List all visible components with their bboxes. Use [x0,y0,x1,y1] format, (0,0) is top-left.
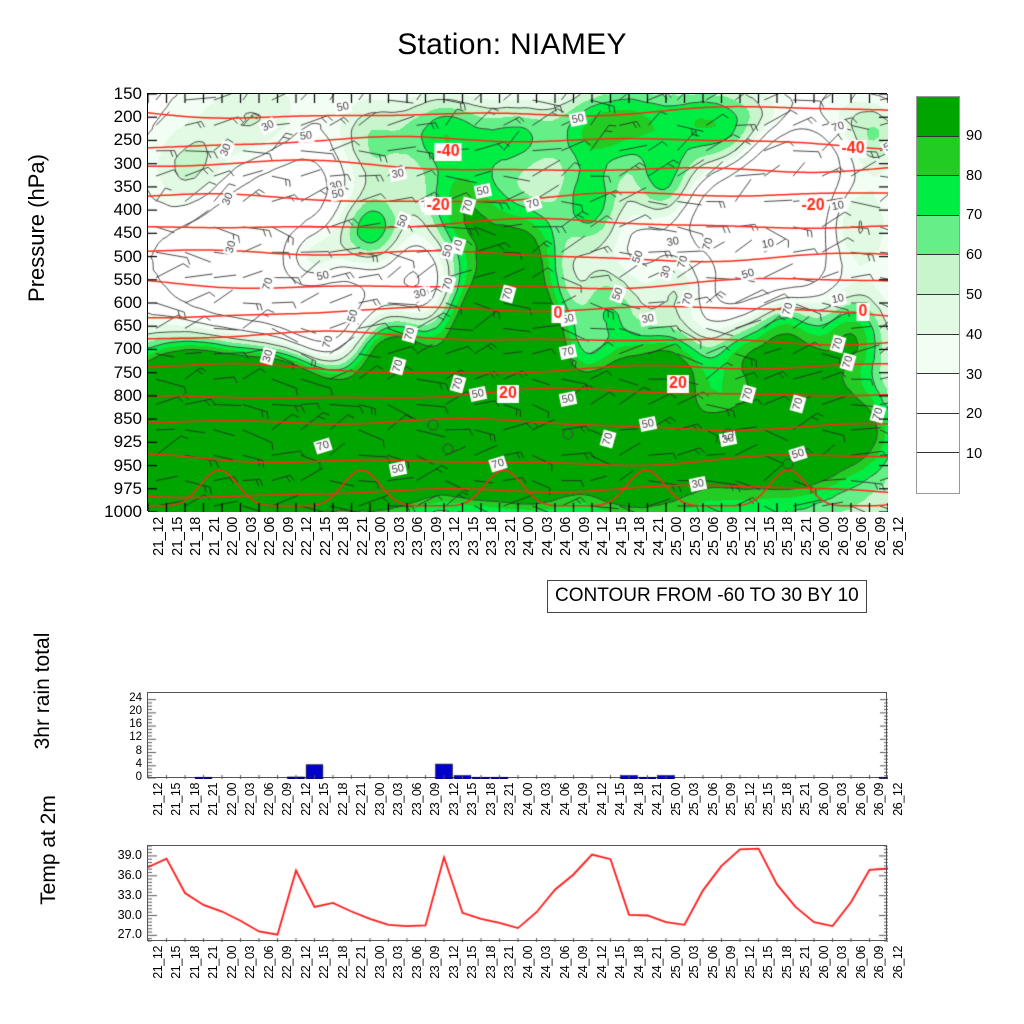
time-tick-25_18: 25_18 [781,517,795,556]
rain-time-tick-24_06: 24_06 [559,783,571,816]
time-tick-24_00: 24_00 [522,517,536,556]
temp-tick-39.0: 39.0 [118,849,142,861]
page-title: Station: NIAMEY [0,28,1024,62]
humidity-cross-section-plot [147,93,887,511]
rain-time-tick-26_03: 26_03 [836,783,848,816]
pressure-tick-150: 150 [114,85,142,102]
pressure-tick-750: 750 [114,364,142,381]
time-tick-23_15: 23_15 [467,517,481,556]
time-tick-22_09: 22_09 [282,517,296,556]
time-tick-26_00: 26_00 [818,517,832,556]
rain-time-tick-25_15: 25_15 [762,783,774,816]
rain-time-tick-22_03: 22_03 [244,783,256,816]
time-tick-24_21: 24_21 [652,517,666,556]
colorbar-cell-4 [917,255,959,295]
temp-time-tick-23_21: 23_21 [503,946,515,979]
rain-tick-12: 12 [129,732,142,743]
temp-time-tick-22_21: 22_21 [355,946,367,979]
pressure-tick-550: 550 [114,271,142,288]
temp-time-tick-26_06: 26_06 [855,946,867,979]
pressure-tick-350: 350 [114,178,142,195]
temp-time-tick-24_12: 24_12 [596,946,608,979]
temp-time-tick-24_06: 24_06 [559,946,571,979]
temp-time-tick-26_03: 26_03 [836,946,848,979]
rain-time-tick-22_18: 22_18 [337,783,349,816]
time-tick-23_03: 23_03 [393,517,407,556]
rain-time-tick-21_15: 21_15 [170,783,182,816]
colorbar-cell-5 [917,295,959,335]
time-tick-24_03: 24_03 [541,517,555,556]
rain-time-tick-23_12: 23_12 [448,783,460,816]
humidity-contour-canvas [148,94,888,512]
colorbar-label-70: 70 [966,208,982,222]
humidity-colorbar [916,96,960,494]
main-x-axis-ticks: 21_1221_1521_1821_2122_0022_0322_0622_09… [147,517,887,579]
rain-tick-0: 0 [136,772,142,783]
temp-time-tick-21_15: 21_15 [170,946,182,979]
pressure-tick-450: 450 [114,224,142,241]
temp-time-tick-21_21: 21_21 [207,946,219,979]
pressure-tick-650: 650 [114,317,142,334]
time-tick-22_00: 22_00 [226,517,240,556]
temp-time-tick-23_12: 23_12 [448,946,460,979]
temp-y-axis-ticks: 39.036.033.030.027.0 [88,838,142,948]
pressure-tick-700: 700 [114,340,142,357]
contour-note: CONTOUR FROM -60 TO 30 BY 10 [547,580,867,613]
colorbar-label-50: 50 [966,288,982,302]
pressure-tick-850: 850 [114,410,142,427]
temp-time-tick-25_18: 25_18 [781,946,793,979]
rain-time-tick-24_21: 24_21 [651,783,663,816]
rain-y-axis-ticks: 24201612840 [100,684,142,784]
time-tick-25_00: 25_00 [670,517,684,556]
time-tick-22_12: 22_12 [300,517,314,556]
temp-time-tick-23_06: 23_06 [411,946,423,979]
time-tick-25_12: 25_12 [744,517,758,556]
temp-time-tick-25_15: 25_15 [762,946,774,979]
humidity-colorbar-labels: 908070605040302010 [966,96,1022,496]
rain-time-tick-25_18: 25_18 [781,783,793,816]
rain-time-tick-23_15: 23_15 [466,783,478,816]
rain-bar-plot [147,692,887,778]
temp-tick-36.0: 36.0 [118,869,142,881]
colorbar-label-60: 60 [966,248,982,262]
temp-time-tick-24_18: 24_18 [633,946,645,979]
pressure-tick-950: 950 [114,457,142,474]
rain-tick-8: 8 [136,746,142,757]
temperature-line-canvas [148,846,888,942]
rain-time-tick-26_00: 26_00 [818,783,830,816]
colorbar-label-10: 10 [966,447,982,461]
pressure-tick-600: 600 [114,294,142,311]
time-tick-25_09: 25_09 [726,517,740,556]
rain-time-tick-26_12: 26_12 [892,783,904,816]
pressure-tick-800: 800 [114,387,142,404]
rain-time-tick-23_00: 23_00 [374,783,386,816]
temp-time-tick-23_00: 23_00 [374,946,386,979]
time-tick-25_15: 25_15 [763,517,777,556]
rain-time-tick-25_09: 25_09 [725,783,737,816]
time-tick-24_15: 24_15 [615,517,629,556]
temp-time-tick-26_09: 26_09 [873,946,885,979]
rain-time-tick-22_12: 22_12 [300,783,312,816]
rain-tick-4: 4 [136,759,142,770]
rain-tick-20: 20 [129,706,142,717]
temp-x-axis-ticks: 21_1221_1521_1821_2122_0022_0322_0622_09… [147,946,887,1000]
temp-time-tick-25_12: 25_12 [744,946,756,979]
temp-time-tick-22_18: 22_18 [337,946,349,979]
time-tick-26_12: 26_12 [892,517,906,556]
temp-y-axis-label: Temp at 2m [37,755,61,945]
rain-time-tick-23_21: 23_21 [503,783,515,816]
colorbar-cell-9 [917,453,959,493]
time-tick-23_21: 23_21 [504,517,518,556]
colorbar-label-90: 90 [966,129,982,143]
time-tick-24_12: 24_12 [596,517,610,556]
time-tick-21_18: 21_18 [189,517,203,556]
temp-time-tick-25_03: 25_03 [688,946,700,979]
time-tick-23_06: 23_06 [411,517,425,556]
time-tick-26_06: 26_06 [855,517,869,556]
temp-time-tick-22_15: 22_15 [318,946,330,979]
temp-time-tick-21_18: 21_18 [189,946,201,979]
rain-time-tick-24_12: 24_12 [596,783,608,816]
pressure-tick-400: 400 [114,201,142,218]
rain-time-tick-25_03: 25_03 [688,783,700,816]
main-y-axis-label: Pressure (hPa) [24,108,50,348]
colorbar-label-80: 80 [966,169,982,183]
time-tick-25_06: 25_06 [707,517,721,556]
rain-time-tick-25_00: 25_00 [670,783,682,816]
pressure-tick-500: 500 [114,248,142,265]
time-tick-22_18: 22_18 [337,517,351,556]
weather-sounding-figure: Station: NIAMEY Pressure (hPa) 150200250… [0,0,1024,1024]
main-y-axis-ticks: 1502002503003504004505005506006507007508… [76,86,142,518]
temp-time-tick-24_03: 24_03 [540,946,552,979]
colorbar-label-40: 40 [966,328,982,342]
temp-time-tick-23_15: 23_15 [466,946,478,979]
rain-time-tick-22_09: 22_09 [281,783,293,816]
pressure-tick-250: 250 [114,131,142,148]
rain-time-tick-25_12: 25_12 [744,783,756,816]
rain-time-tick-22_00: 22_00 [226,783,238,816]
rain-bar-canvas [148,693,888,779]
rain-time-tick-24_09: 24_09 [577,783,589,816]
time-tick-25_21: 25_21 [800,517,814,556]
time-tick-26_09: 26_09 [874,517,888,556]
rain-time-tick-24_03: 24_03 [540,783,552,816]
temp-tick-33.0: 33.0 [118,889,142,901]
pressure-tick-300: 300 [114,155,142,172]
colorbar-label-30: 30 [966,368,982,382]
temp-time-tick-23_09: 23_09 [429,946,441,979]
time-tick-25_03: 25_03 [689,517,703,556]
rain-tick-24: 24 [129,693,142,704]
time-tick-21_21: 21_21 [208,517,222,556]
time-tick-22_21: 22_21 [356,517,370,556]
rain-time-tick-21_18: 21_18 [189,783,201,816]
colorbar-cell-8 [917,414,959,454]
rain-time-tick-23_06: 23_06 [411,783,423,816]
time-tick-23_00: 23_00 [374,517,388,556]
temp-time-tick-25_21: 25_21 [799,946,811,979]
temp-time-tick-22_00: 22_00 [226,946,238,979]
rain-time-tick-26_09: 26_09 [873,783,885,816]
time-tick-23_09: 23_09 [430,517,444,556]
temp-time-tick-25_06: 25_06 [707,946,719,979]
colorbar-cell-7 [917,374,959,414]
temp-time-tick-21_12: 21_12 [152,946,164,979]
rain-time-tick-23_09: 23_09 [429,783,441,816]
time-tick-22_06: 22_06 [263,517,277,556]
temp-tick-27.0: 27.0 [118,928,142,940]
pressure-tick-925: 925 [114,433,142,450]
pressure-tick-975: 975 [114,480,142,497]
colorbar-cell-1 [917,137,959,177]
colorbar-cell-0 [917,97,959,137]
temp-time-tick-24_00: 24_00 [522,946,534,979]
temp-time-tick-23_03: 23_03 [392,946,404,979]
temperature-line-plot [147,845,887,941]
rain-x-axis-ticks: 21_1221_1521_1821_2122_0022_0322_0622_09… [147,783,887,835]
colorbar-label-20: 20 [966,407,982,421]
rain-time-tick-24_18: 24_18 [633,783,645,816]
time-tick-21_15: 21_15 [171,517,185,556]
temp-time-tick-25_00: 25_00 [670,946,682,979]
colorbar-cell-6 [917,335,959,375]
time-tick-26_03: 26_03 [837,517,851,556]
time-tick-23_12: 23_12 [448,517,462,556]
rain-time-tick-26_06: 26_06 [855,783,867,816]
temp-time-tick-22_12: 22_12 [300,946,312,979]
rain-time-tick-24_00: 24_00 [522,783,534,816]
rain-time-tick-25_06: 25_06 [707,783,719,816]
temp-time-tick-25_09: 25_09 [725,946,737,979]
pressure-tick-200: 200 [114,108,142,125]
rain-tick-16: 16 [129,719,142,730]
temp-time-tick-22_06: 22_06 [263,946,275,979]
time-tick-24_06: 24_06 [559,517,573,556]
colorbar-cell-3 [917,216,959,256]
colorbar-cell-2 [917,176,959,216]
temp-time-tick-24_21: 24_21 [651,946,663,979]
time-tick-24_09: 24_09 [578,517,592,556]
rain-time-tick-23_18: 23_18 [485,783,497,816]
temp-time-tick-24_15: 24_15 [614,946,626,979]
temp-time-tick-22_09: 22_09 [281,946,293,979]
rain-time-tick-24_15: 24_15 [614,783,626,816]
pressure-tick-1000: 1000 [104,503,142,520]
time-tick-21_12: 21_12 [152,517,166,556]
temp-time-tick-22_03: 22_03 [244,946,256,979]
temp-time-tick-24_09: 24_09 [577,946,589,979]
time-tick-22_03: 22_03 [245,517,259,556]
temp-time-tick-23_18: 23_18 [485,946,497,979]
rain-time-tick-23_03: 23_03 [392,783,404,816]
rain-time-tick-22_15: 22_15 [318,783,330,816]
rain-time-tick-22_06: 22_06 [263,783,275,816]
rain-time-tick-21_21: 21_21 [207,783,219,816]
rain-time-tick-21_12: 21_12 [152,783,164,816]
temp-time-tick-26_00: 26_00 [818,946,830,979]
time-tick-23_18: 23_18 [485,517,499,556]
temp-tick-30.0: 30.0 [118,909,142,921]
rain-time-tick-25_21: 25_21 [799,783,811,816]
time-tick-24_18: 24_18 [633,517,647,556]
rain-time-tick-22_21: 22_21 [355,783,367,816]
temp-time-tick-26_12: 26_12 [892,946,904,979]
time-tick-22_15: 22_15 [319,517,333,556]
